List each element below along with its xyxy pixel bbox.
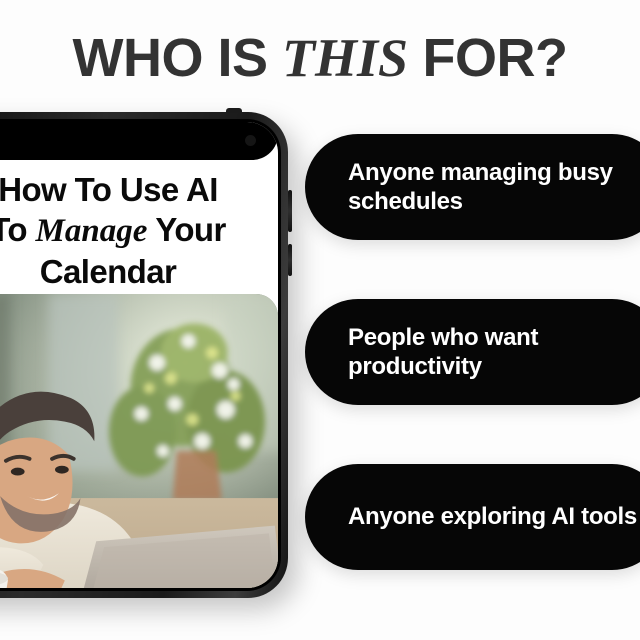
phone-volume-down-button[interactable] bbox=[288, 244, 292, 276]
page-title: WHO IS THIS FOR? bbox=[0, 30, 640, 87]
page-title-suffix: FOR? bbox=[408, 28, 567, 88]
phone-photo bbox=[0, 294, 278, 588]
benefit-pill-1[interactable]: Anyone managing busy schedules bbox=[305, 134, 640, 240]
front-camera-icon bbox=[245, 135, 256, 146]
phone-bezel: How To Use AI To Manage Your Calendar bbox=[0, 119, 281, 591]
phone-headline-line1: How To Use AI bbox=[0, 171, 218, 208]
phone-top-nub bbox=[226, 108, 242, 113]
phone-headline-line2-emphasis: Manage bbox=[36, 213, 148, 249]
phone-status-bar bbox=[0, 122, 278, 160]
benefit-pill-1-label: Anyone managing busy schedules bbox=[305, 158, 640, 217]
phone-volume-up-button[interactable] bbox=[288, 190, 292, 232]
phone-headline-line3: Calendar bbox=[40, 253, 176, 290]
benefit-pill-2-label: People who want productivity bbox=[305, 323, 640, 382]
page-title-emphasis: THIS bbox=[282, 28, 408, 88]
benefit-pill-2[interactable]: People who want productivity bbox=[305, 299, 640, 405]
slide-canvas: WHO IS THIS FOR? How To Use AI To Manage… bbox=[0, 0, 640, 640]
phone-headline-line2-prefix: To bbox=[0, 211, 36, 248]
phone-headline-line2-suffix: Your bbox=[147, 211, 225, 248]
benefit-pill-3[interactable]: Anyone exploring AI tools bbox=[305, 464, 640, 570]
phone-headline: How To Use AI To Manage Your Calendar bbox=[0, 170, 278, 292]
phone-mockup: How To Use AI To Manage Your Calendar bbox=[0, 112, 288, 598]
phone-screen: How To Use AI To Manage Your Calendar bbox=[0, 122, 278, 588]
page-title-prefix: WHO IS bbox=[72, 28, 282, 88]
benefit-pill-3-label: Anyone exploring AI tools bbox=[305, 502, 640, 531]
